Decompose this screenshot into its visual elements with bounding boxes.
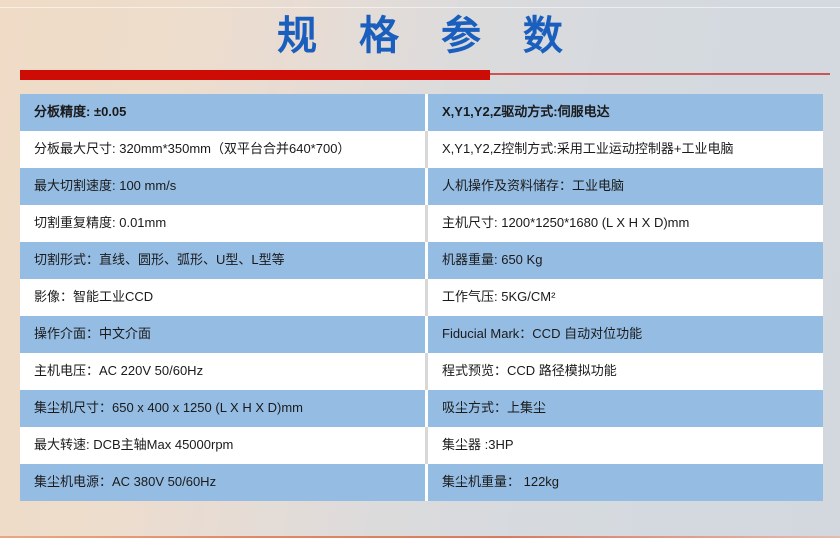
table-row: 集尘机电源：AC 380V 50/60Hz 集尘机重量： 122kg [20, 464, 823, 501]
spec-cell-right: Fiducial Mark：CCD 自动对位功能 [427, 316, 824, 353]
spec-cell-left: 最大切割速度: 100 mm/s [20, 168, 427, 205]
spec-cell-right: 集尘器 :3HP [427, 427, 824, 464]
table-row: 切割形式：直线、圆形、弧形、U型、L型等 机器重量: 650 Kg [20, 242, 823, 279]
spec-cell-right: X,Y1,Y2,Z控制方式:采用工业运动控制器+工业电脑 [427, 131, 824, 168]
spec-cell-left: 分板最大尺寸: 320mm*350mm（双平台合并640*700） [20, 131, 427, 168]
title-underline-accent-bar [20, 70, 490, 80]
spec-cell-left: 最大转速: DCB主轴Max 45000rpm [20, 427, 427, 464]
spec-cell-right: 主机尺寸: 1200*1250*1680 (L X H X D)mm [427, 205, 824, 242]
table-row: 分板最大尺寸: 320mm*350mm（双平台合并640*700） X,Y1,Y… [20, 131, 823, 168]
spec-cell-right: 集尘机重量： 122kg [427, 464, 824, 501]
table-row: 切割重复精度: 0.01mm 主机尺寸: 1200*1250*1680 (L X… [20, 205, 823, 242]
spec-cell-left: 操作介面：中文介面 [20, 316, 427, 353]
table-row: 主机电压：AC 220V 50/60Hz 程式预览：CCD 路径模拟功能 [20, 353, 823, 390]
table-row: 操作介面：中文介面 Fiducial Mark：CCD 自动对位功能 [20, 316, 823, 353]
spec-cell-right: 人机操作及资料储存：工业电脑 [427, 168, 824, 205]
table-row: 影像：智能工业CCD 工作气压: 5KG/CM² [20, 279, 823, 316]
spec-cell-left: 集尘机电源：AC 380V 50/60Hz [20, 464, 427, 501]
spec-cell-left: 切割形式：直线、圆形、弧形、U型、L型等 [20, 242, 427, 279]
spec-cell-left: 分板精度: ±0.05 [20, 94, 427, 131]
page-title-area: 规 格 参 数 [0, 6, 840, 66]
spec-cell-left: 影像：智能工业CCD [20, 279, 427, 316]
spec-cell-right: 吸尘方式：上集尘 [427, 390, 824, 427]
table-row: 最大转速: DCB主轴Max 45000rpm 集尘器 :3HP [20, 427, 823, 464]
spec-cell-right: 工作气压: 5KG/CM² [427, 279, 824, 316]
spec-cell-left: 集尘机尺寸：650 x 400 x 1250 (L X H X D)mm [20, 390, 427, 427]
spec-cell-right: X,Y1,Y2,Z驱动方式:伺服电达 [427, 94, 824, 131]
spec-cell-left: 主机电压：AC 220V 50/60Hz [20, 353, 427, 390]
specifications-table-body: 分板精度: ±0.05 X,Y1,Y2,Z驱动方式:伺服电达 分板最大尺寸: 3… [20, 94, 823, 501]
spec-cell-right: 程式预览：CCD 路径模拟功能 [427, 353, 824, 390]
page-title: 规 格 参 数 [263, 16, 577, 56]
spec-sheet-page: 规 格 参 数 分板精度: ±0.05 X,Y1,Y2,Z驱动方式:伺服电达 分… [0, 0, 840, 538]
specifications-table: 分板精度: ±0.05 X,Y1,Y2,Z驱动方式:伺服电达 分板最大尺寸: 3… [20, 94, 823, 501]
table-row: 分板精度: ±0.05 X,Y1,Y2,Z驱动方式:伺服电达 [20, 94, 823, 131]
table-row: 集尘机尺寸：650 x 400 x 1250 (L X H X D)mm 吸尘方… [20, 390, 823, 427]
spec-cell-left: 切割重复精度: 0.01mm [20, 205, 427, 242]
table-row: 最大切割速度: 100 mm/s 人机操作及资料储存：工业电脑 [20, 168, 823, 205]
spec-cell-right: 机器重量: 650 Kg [427, 242, 824, 279]
